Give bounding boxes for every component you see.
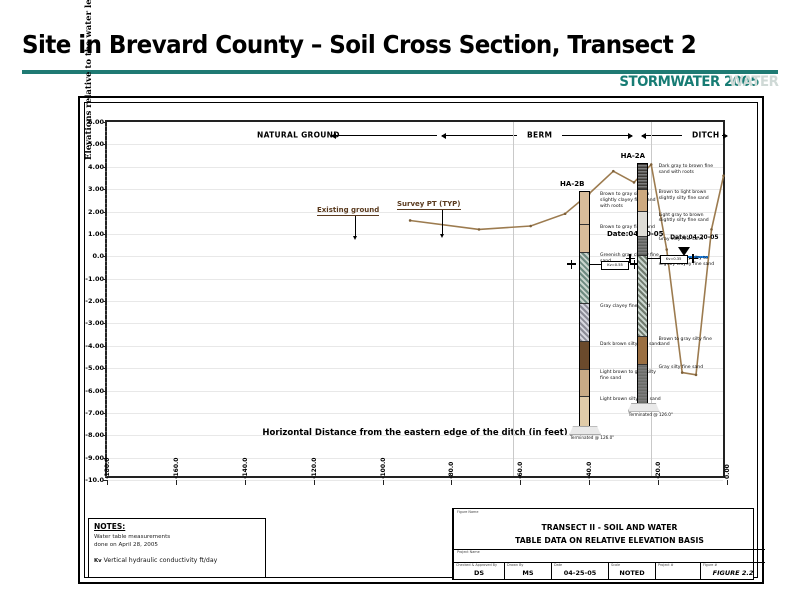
survey-point bbox=[612, 170, 615, 173]
annotation-callout: Existing ground bbox=[317, 206, 379, 216]
y-axis-tick-label: -6.00 bbox=[85, 387, 104, 395]
boring-soil-layer bbox=[638, 212, 647, 237]
soil-layer-description: Brown to light brown slightly silty fine… bbox=[659, 190, 721, 201]
kv-definition: Vertical hydraulic conductivity ft/day bbox=[104, 557, 218, 564]
x-axis-tick-mark bbox=[314, 480, 315, 485]
boring-soil-layer bbox=[580, 304, 589, 342]
drawing-title-block: DEVO Engineering CONSULTING GEOTECHNICAL… bbox=[452, 508, 754, 580]
kv-leader bbox=[648, 258, 660, 259]
y-axis-tick-label: -5.00 bbox=[85, 364, 104, 372]
x-axis-tick-mark bbox=[107, 480, 108, 485]
soil-layer-description: Dark gray to brown fine sand with roots bbox=[659, 164, 721, 175]
soil-layer-description: Light gray to brown slightly silty fine … bbox=[659, 213, 721, 224]
kv-leader bbox=[589, 264, 601, 265]
x-axis-tick-mark bbox=[658, 480, 659, 485]
leader-arrowhead bbox=[440, 234, 444, 238]
survey-point bbox=[529, 225, 532, 228]
boring-soil-layer bbox=[580, 370, 589, 397]
boring-soil-layer bbox=[580, 342, 589, 370]
y-axis-tick-label: -7.00 bbox=[85, 409, 104, 417]
boring-soil-layer bbox=[580, 192, 589, 224]
y-axis-tick-label: 2.00 bbox=[88, 208, 104, 216]
boring-id-label: HA-2B bbox=[560, 180, 584, 188]
annotation-callout: Survey PT (TYP) bbox=[397, 200, 461, 210]
figure-title-line-2: TABLE DATA ON RELATIVE ELEVATION BASIS bbox=[463, 535, 756, 547]
title-block-fields: Figure Name TRANSECT II - SOIL AND WATER… bbox=[454, 509, 765, 579]
water-table-date-label: Date:04-20-05 bbox=[670, 234, 718, 241]
soil-layer-description: Light brown to gray silty fine sand bbox=[600, 370, 662, 381]
boring-soil-layer bbox=[638, 237, 647, 256]
notes-block: NOTES: Water table measurements done on … bbox=[88, 518, 266, 578]
conference-brand-logo: STORMWATER 2005 WATER bbox=[619, 74, 778, 90]
boring-soil-layer bbox=[638, 190, 647, 212]
soil-layer-description: Gray clayey fine sand bbox=[600, 304, 662, 310]
measurement-crosshair-icon bbox=[567, 260, 576, 269]
annotation-callout: Date:04-20-05 bbox=[607, 230, 663, 239]
soil-layer-description: Light brown silty fine sand bbox=[600, 397, 662, 403]
soil-layer-description: Brown to gray silty fine sand bbox=[659, 337, 721, 348]
boring-id-label: HA-2A bbox=[621, 152, 645, 160]
y-axis-tick-label: 3.00 bbox=[88, 185, 104, 193]
field-value: FIGURE 2.2 bbox=[703, 568, 763, 578]
x-axis-tick-mark bbox=[451, 480, 452, 485]
survey-point bbox=[695, 374, 698, 377]
y-axis-tick-label: -1.00 bbox=[85, 275, 104, 283]
grid-line bbox=[107, 480, 723, 481]
boring-termination-depth: Terminated @ 126.0" bbox=[629, 412, 673, 417]
kv-symbol: Kv bbox=[94, 558, 102, 564]
figure-title-line-1: TRANSECT II - SOIL AND WATER bbox=[463, 522, 756, 534]
brand-ghost-text: WATER bbox=[729, 74, 778, 90]
title-block-field: Figure #FIGURE 2.2 bbox=[701, 563, 765, 579]
project-name-row: Project Name bbox=[454, 550, 765, 563]
project-name-tag: Project Name bbox=[457, 551, 762, 555]
soil-layer-description: Gray silty fine sand bbox=[659, 365, 721, 371]
title-block-field: Project # bbox=[656, 563, 701, 579]
boring-soil-layer bbox=[638, 365, 647, 404]
title-block-field: Date04-25-05 bbox=[552, 563, 609, 579]
y-axis-tick-label: -3.00 bbox=[85, 319, 104, 327]
x-axis-tick-mark bbox=[589, 480, 590, 485]
boring-soil-layer bbox=[580, 253, 589, 304]
boring-termination-symbol bbox=[569, 426, 601, 435]
kv-value-box: Kv=0.35 bbox=[660, 255, 688, 264]
leader-line bbox=[442, 210, 443, 234]
field-value: 04-25-05 bbox=[554, 568, 606, 578]
x-axis-tick-mark bbox=[520, 480, 521, 485]
survey-point bbox=[478, 228, 481, 231]
field-tag: Project # bbox=[658, 564, 698, 568]
leader-line bbox=[355, 216, 356, 236]
measurement-crosshair-icon bbox=[626, 254, 635, 263]
field-value: NOTED bbox=[611, 568, 653, 578]
notes-line-1: Water table measurements bbox=[94, 534, 260, 542]
survey-point bbox=[665, 248, 668, 251]
title-block-field: Checked & Approved ByDS bbox=[454, 563, 505, 579]
boring-termination-symbol bbox=[628, 403, 660, 412]
survey-point bbox=[633, 181, 636, 184]
boring-log-column bbox=[579, 191, 590, 426]
x-axis-tick-mark bbox=[245, 480, 246, 485]
profile-lines bbox=[107, 122, 727, 480]
measurement-crosshair-icon bbox=[689, 254, 698, 263]
survey-point bbox=[722, 174, 725, 177]
survey-point bbox=[681, 371, 684, 374]
title-block-field-row: Checked & Approved ByDSDrawn ByMSDate04-… bbox=[454, 563, 765, 579]
x-axis-tick-mark bbox=[383, 480, 384, 485]
field-value: MS bbox=[507, 568, 549, 578]
survey-point bbox=[564, 212, 567, 215]
y-axis-tick-label: 1.00 bbox=[88, 230, 104, 238]
survey-point bbox=[710, 228, 713, 231]
cross-section-plot: NATURAL GROUNDBERMDITCH Horizontal Dista… bbox=[105, 120, 725, 478]
notes-heading: NOTES: bbox=[94, 522, 260, 531]
notes-kv-legend: Kv Vertical hydraulic conductivity ft/da… bbox=[94, 557, 260, 564]
field-value: DS bbox=[456, 568, 502, 578]
boring-soil-layer bbox=[638, 337, 647, 365]
notes-line-2: done on April 28, 2005 bbox=[94, 542, 260, 550]
soil-layer-description: Brown to gray silty to slightly clayey f… bbox=[600, 192, 662, 209]
y-axis-tick-label: 4.00 bbox=[88, 163, 104, 171]
page-title: Site in Brevard County – Soil Cross Sect… bbox=[22, 30, 666, 59]
boring-soil-layer bbox=[580, 225, 589, 253]
boring-soil-layer bbox=[638, 256, 647, 337]
soil-layer-description: Brown to gray fine sand bbox=[600, 225, 662, 231]
title-block-field: ScaleNOTED bbox=[609, 563, 656, 579]
survey-point bbox=[650, 163, 653, 166]
boring-soil-layer bbox=[638, 164, 647, 190]
soil-layer-description: Dark brown silty fine sand bbox=[600, 342, 662, 348]
boring-termination-depth: Terminated @ 126.0" bbox=[570, 435, 614, 440]
y-axis-tick-label: -4.00 bbox=[85, 342, 104, 350]
title-block-field: Drawn ByMS bbox=[505, 563, 552, 579]
figure-name-row: Figure Name TRANSECT II - SOIL AND WATER… bbox=[454, 509, 765, 550]
survey-point bbox=[409, 219, 412, 222]
y-axis-tick-label: -10.0 bbox=[85, 476, 104, 484]
x-axis-tick-mark bbox=[176, 480, 177, 485]
boring-soil-layer bbox=[580, 397, 589, 427]
x-axis-tick-mark bbox=[727, 480, 728, 485]
y-axis-tick-label: -9.00 bbox=[85, 454, 104, 462]
figure-name-tag: Figure Name bbox=[457, 511, 762, 515]
y-axis-tick-label: -8.00 bbox=[85, 431, 104, 439]
y-axis-tick-label: -2.00 bbox=[85, 297, 104, 305]
boring-log-column bbox=[637, 163, 648, 402]
y-axis-label: Elevations relative to the water level i… bbox=[84, 0, 94, 160]
leader-arrowhead bbox=[353, 236, 357, 240]
